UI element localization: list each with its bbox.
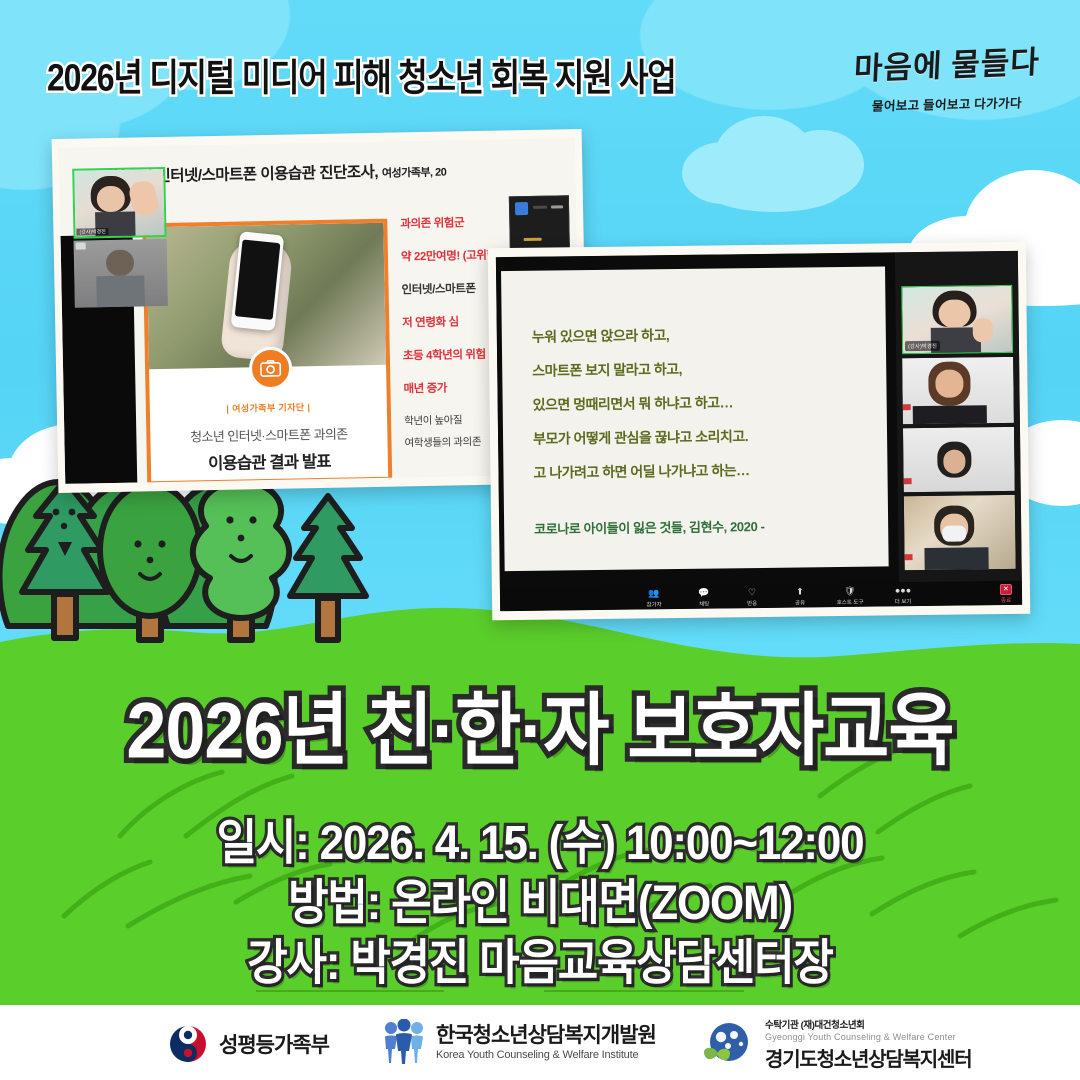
chat-label: 채팅 xyxy=(699,602,709,608)
slide-2-text-line: 부모가 어떻게 관심을 끊냐고 소리치고. xyxy=(533,426,748,449)
card-line-2: 이용습관 결과 발표 xyxy=(151,447,388,476)
reactions-icon: ♡ xyxy=(734,587,770,598)
zoom-share-stage: 누워 있으면 앉으라 하고, 스마트폰 보지 말라고 하고, 있으면 멍때리면서… xyxy=(496,252,899,587)
reactions-button[interactable]: ♡ 반응 xyxy=(734,587,770,607)
participant-video-tile xyxy=(902,357,1014,424)
speaker-name-label: (강사)박경진 xyxy=(76,228,108,236)
zoom-toolbar[interactable]: 👥 참가자 💬 채팅 ♡ 반응 ⬆ 공유 🛡 호스트 도구 xyxy=(500,581,1022,611)
brand-logo: 마음에 물들다 물어보고 들어보고 다가가다 xyxy=(842,40,1052,113)
zoom-gallery-strip: (강사)박경진 xyxy=(895,251,1022,582)
zoom-screenshot-2-inner: 누워 있으면 앉으라 하고, 스마트폰 보지 말라고 하고, 있으면 멍때리면서… xyxy=(496,251,1022,611)
participant-video-tile xyxy=(903,427,1015,492)
logo-gyeonggi-line2: Gyeonggi Youth Counseling & Welfare Cent… xyxy=(765,1032,971,1042)
more-button[interactable]: ●●● 더 보기 xyxy=(882,585,924,606)
event-instructor: 강사: 박경진 마음교육상담센터장 xyxy=(0,923,1080,993)
program-title: 2026년 디지털 미디어 피해 청소년 회복 지원 사업 xyxy=(47,48,676,102)
logo-gyeonggi-center: 수탁기관 (재)대건청소년회 Gyeonggi Youth Counseling… xyxy=(700,1017,971,1072)
participant-video-tile xyxy=(74,239,168,308)
share-label: 공유 xyxy=(795,600,805,606)
decorative-underline xyxy=(256,990,444,992)
camera-badge-icon xyxy=(249,347,293,391)
slide-2-text-line: 고 나가려고 하면 어딜 나가냐고 하는… xyxy=(533,460,749,483)
zoom-screenshot-2: 누워 있으면 앉으라 하고, 스마트폰 보지 말라고 하고, 있으면 멍때리면서… xyxy=(488,242,1031,621)
speaker-name-label: (강사)박경진 xyxy=(905,341,940,351)
participants-button[interactable]: 👥 참가자 xyxy=(634,588,674,608)
logo-gyeonggi-text: 수탁기관 (재)대건청소년회 Gyeonggi Youth Counseling… xyxy=(765,1017,971,1072)
host-tools-icon: 🛡 xyxy=(824,586,876,598)
slide-2-source: 코로나로 아이들이 잃은 것들, 김현수, 2020 - xyxy=(534,516,765,538)
share-button[interactable]: ⬆ 공유 xyxy=(782,586,818,606)
slide-1-headline: 청소년 인터넷/스마트폰 이용습관 진단조사, 여성가족부, 20 xyxy=(111,156,581,187)
end-call-label: 종료 xyxy=(1001,598,1011,604)
reactions-label: 반응 xyxy=(747,601,757,607)
speaker-video-tile: (강사)박경진 xyxy=(901,285,1013,354)
speaker-video-tile: (강사)박경진 xyxy=(72,167,166,239)
footer-logos: 성평등가족부 한국청소년상담복지개발원 Korea Youth Counseli… xyxy=(0,1005,1080,1080)
gyeonggi-center-icon xyxy=(700,1022,756,1068)
host-tools-button[interactable]: 🛡 호스트 도구 xyxy=(824,586,876,607)
promo-card: 2026년 디지털 미디어 피해 청소년 회복 지원 사업 마음에 물들다 물어… xyxy=(0,0,1080,1080)
presentation-slide-2: 누워 있으면 앉으라 하고, 스마트폰 보지 말라고 하고, 있으면 멍때리면서… xyxy=(501,266,889,571)
logo-kyci-text: 한국청소년상담복지개발원 Korea Youth Counseling & We… xyxy=(436,1023,656,1062)
slide-1-image-card: | 여성가족부 기자단 | 청소년 인터넷·스마트폰 과의존 이용습관 결과 발… xyxy=(142,219,392,484)
logo-mogef-label: 성평등가족부 xyxy=(219,1029,329,1059)
participant-video-tile xyxy=(904,495,1016,570)
more-label: 더 보기 xyxy=(895,599,912,605)
logo-gyeonggi-line1: 수탁기관 (재)대건청소년회 xyxy=(765,1017,971,1031)
participants-label: 참가자 xyxy=(646,602,661,608)
end-call-button[interactable]: ✕ 종료 xyxy=(1000,584,1012,604)
logo-kyci: 한국청소년상담복지개발원 Korea Youth Counseling & We… xyxy=(382,1019,656,1065)
slide-2-text-line: 있으면 멍때리면서 뭐 하냐고 하고… xyxy=(533,392,734,414)
more-icon: ●●● xyxy=(882,585,924,597)
logo-mogef: 성평등가족부 xyxy=(168,1024,329,1064)
footer: 성평등가족부 한국청소년상담복지개발원 Korea Youth Counseli… xyxy=(0,1005,1080,1080)
card-kicker: | 여성가족부 기자단 | xyxy=(150,399,387,417)
taegeuk-icon xyxy=(168,1024,208,1064)
slide-2-text-line: 누워 있으면 앉으라 하고, xyxy=(532,325,670,347)
participants-icon: 👥 xyxy=(634,588,674,599)
decorative-underline xyxy=(544,990,744,992)
brand-logo-main: 마음에 물들다 xyxy=(841,36,1053,89)
chat-icon: 💬 xyxy=(686,587,722,598)
end-call-icon: ✕ xyxy=(1000,584,1012,595)
logo-kyci-label-ko: 한국청소년상담복지개발원 xyxy=(436,1023,656,1048)
kyci-people-icon xyxy=(382,1019,426,1065)
card-line-1: 청소년 인터넷·스마트폰 과의존 xyxy=(150,423,387,447)
logo-kyci-label-en: Korea Youth Counseling & Welfare Institu… xyxy=(436,1048,656,1062)
chat-button[interactable]: 💬 채팅 xyxy=(686,587,722,607)
brand-logo-sub: 물어보고 들어보고 다가가다 xyxy=(842,92,1053,115)
event-title: 2026년 친·한·자 보호자교육 xyxy=(0,665,1080,781)
slide-2-text-line: 스마트폰 보지 말라고 하고, xyxy=(532,359,682,381)
host-tools-label: 호스트 도구 xyxy=(837,600,864,606)
face-mask-icon xyxy=(942,525,966,541)
logo-gyeonggi-line3: 경기도청소년상담복지센터 xyxy=(765,1043,971,1072)
share-icon: ⬆ xyxy=(782,586,818,597)
